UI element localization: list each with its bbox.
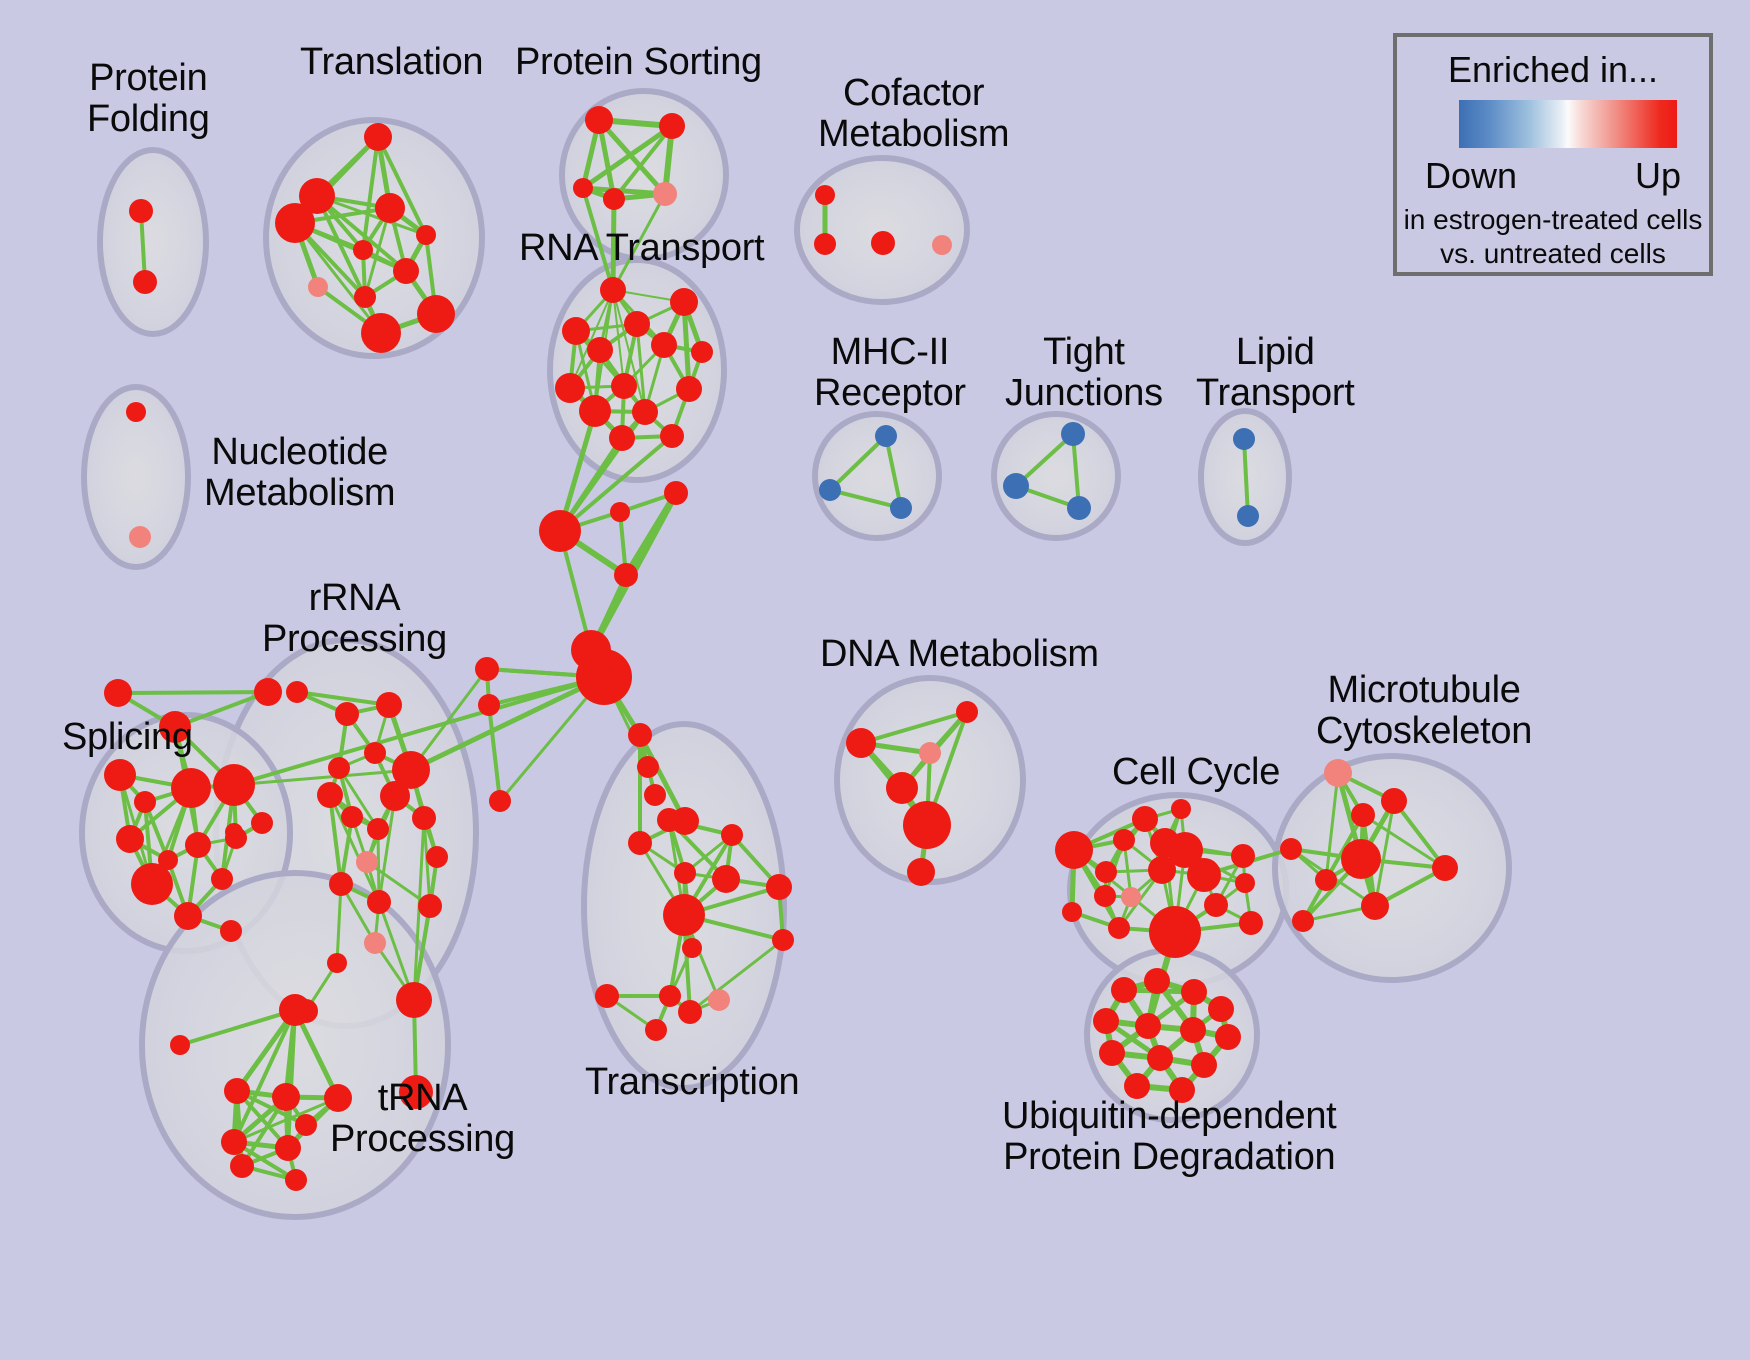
network-node[interactable] [562,317,590,345]
network-node[interactable] [1171,799,1191,819]
network-node[interactable] [1061,422,1085,446]
network-node[interactable] [116,825,144,853]
network-node[interactable] [721,824,743,846]
network-node[interactable] [1208,996,1234,1022]
network-node[interactable] [308,277,328,297]
network-node[interactable] [670,288,698,316]
network-node[interactable] [628,723,652,747]
network-node[interactable] [609,425,635,451]
network-node[interactable] [328,757,350,779]
network-node[interactable] [1180,1017,1206,1043]
network-node[interactable] [335,702,359,726]
network-node[interactable] [871,231,895,255]
network-node[interactable] [133,270,157,294]
network-node[interactable] [653,182,677,206]
cluster-label-rna-transport: RNA Transport [519,228,764,269]
network-node[interactable] [375,193,405,223]
network-node[interactable] [329,872,353,896]
network-node[interactable] [1181,979,1207,1005]
network-node[interactable] [1191,1052,1217,1078]
network-node[interactable] [254,678,282,706]
cluster-label-dna-metabolism: DNA Metabolism [820,634,1099,675]
network-node[interactable] [356,851,378,873]
network-node[interactable] [576,649,632,705]
network-node[interactable] [1231,844,1255,868]
network-node[interactable] [1324,759,1352,787]
network-node[interactable] [126,402,146,422]
network-node[interactable] [131,863,173,905]
network-node[interactable] [1315,869,1337,891]
network-node[interactable] [708,989,730,1011]
network-node[interactable] [230,1154,254,1178]
network-node[interactable] [275,1135,301,1161]
network-node[interactable] [478,694,500,716]
network-edge [118,692,268,693]
network-node[interactable] [134,791,156,813]
network-node[interactable] [104,679,132,707]
network-node[interactable] [676,376,702,402]
network-node[interactable] [213,764,255,806]
network-node[interactable] [1111,977,1137,1003]
cluster-label-ubiquitin-degradation: Ubiquitin-dependent Protein Degradation [1002,1096,1336,1177]
network-node[interactable] [682,938,702,958]
cluster-label-splicing: Splicing [62,717,193,758]
network-node[interactable] [637,756,659,778]
network-node[interactable] [539,510,581,552]
network-node[interactable] [129,199,153,223]
network-node[interactable] [1003,473,1029,499]
network-edge [489,705,500,801]
network-node[interactable] [1215,1024,1241,1050]
legend-down-label: Down [1425,155,1517,197]
network-node[interactable] [678,1000,702,1024]
network-node[interactable] [819,479,841,501]
network-node[interactable] [171,768,211,808]
network-node[interactable] [354,286,376,308]
network-node[interactable] [220,920,242,942]
network-node[interactable] [573,178,593,198]
cluster-label-protein-folding: Protein Folding [87,58,210,139]
network-node[interactable] [272,1083,300,1111]
network-node[interactable] [555,373,585,403]
network-node[interactable] [660,424,684,448]
network-node[interactable] [1204,893,1228,917]
network-node[interactable] [295,1114,317,1136]
network-node[interactable] [380,781,410,811]
network-node[interactable] [579,395,611,427]
cluster-label-cofactor-metabolism: Cofactor Metabolism [818,73,1009,154]
network-node[interactable] [426,846,448,868]
network-node[interactable] [341,806,363,828]
network-node[interactable] [327,953,347,973]
network-node[interactable] [1239,911,1263,935]
network-node[interactable] [663,894,705,936]
network-node[interactable] [1148,856,1176,884]
network-node[interactable] [624,311,650,337]
network-node[interactable] [712,865,740,893]
cluster-label-cell-cycle: Cell Cycle [1112,752,1280,793]
network-node[interactable] [674,862,696,884]
network-node[interactable] [417,295,455,333]
network-node[interactable] [1108,917,1130,939]
network-node[interactable] [932,235,952,255]
network-node[interactable] [1132,806,1158,832]
network-node[interactable] [1121,887,1141,907]
network-node[interactable] [1093,1008,1119,1034]
cluster-label-mhc-ii-receptor: MHC-II Receptor [814,332,966,413]
network-node[interactable] [1113,829,1135,851]
network-node[interactable] [1341,839,1381,879]
network-node[interactable] [651,332,677,358]
network-node[interactable] [614,563,638,587]
cluster-label-protein-sorting: Protein Sorting [515,42,762,83]
network-node[interactable] [317,782,343,808]
network-node[interactable] [211,868,233,890]
network-node[interactable] [645,1019,667,1041]
network-node[interactable] [1233,428,1255,450]
cluster-label-transcription: Transcription [585,1062,799,1103]
network-node[interactable] [1432,855,1458,881]
network-node[interactable] [603,188,625,210]
network-node[interactable] [1187,858,1221,892]
network-node[interactable] [1361,892,1389,920]
legend-color-gradient-bar [1459,100,1677,148]
network-node[interactable] [886,772,918,804]
network-node[interactable] [919,742,941,764]
network-node[interactable] [279,994,311,1026]
network-node[interactable] [185,832,211,858]
network-node[interactable] [1147,1045,1173,1071]
network-node[interactable] [104,759,136,791]
network-node[interactable] [251,812,273,834]
legend-title: Enriched in... [1397,49,1709,91]
network-node[interactable] [416,225,436,245]
network-node[interactable] [393,258,419,284]
network-node[interactable] [418,894,442,918]
network-node[interactable] [170,1035,190,1055]
network-node[interactable] [664,481,688,505]
network-node[interactable] [1351,803,1375,827]
network-node[interactable] [600,277,626,303]
network-node[interactable] [285,1169,307,1191]
cluster-label-tight-junctions: Tight Junctions [1005,332,1163,413]
cluster-label-translation: Translation [300,42,483,83]
network-node[interactable] [1235,873,1255,893]
network-node[interactable] [1067,496,1091,520]
network-node[interactable] [129,526,151,548]
network-node[interactable] [632,399,658,425]
network-node[interactable] [1144,968,1170,994]
legend-subtitle: in estrogen-treated cells vs. untreated … [1397,203,1709,271]
network-node[interactable] [1055,831,1093,869]
network-node[interactable] [364,123,392,151]
legend-up-label: Up [1635,155,1681,197]
network-node[interactable] [585,106,613,134]
legend-panel: Enriched in... Down Up in estrogen-treat… [1393,33,1713,276]
network-node[interactable] [846,728,876,758]
network-node[interactable] [595,984,619,1008]
network-node[interactable] [412,806,436,830]
network-node[interactable] [174,902,202,930]
network-node[interactable] [225,823,243,841]
cluster-label-trna-processing: tRNA Processing [330,1078,515,1159]
network-node[interactable] [364,742,386,764]
network-node[interactable] [367,890,391,914]
network-node[interactable] [875,425,897,447]
cluster-label-nucleotide-metabolism: Nucleotide Metabolism [204,432,395,513]
network-node[interactable] [286,681,308,703]
network-node[interactable] [890,497,912,519]
network-node[interactable] [1237,505,1259,527]
network-node[interactable] [367,818,389,840]
network-node[interactable] [587,337,613,363]
cluster-hull [100,150,206,334]
network-node[interactable] [691,341,713,363]
network-edge [626,493,676,575]
network-node[interactable] [475,657,499,681]
network-node[interactable] [903,801,951,849]
network-node[interactable] [396,982,432,1018]
network-node[interactable] [1292,910,1314,932]
network-node[interactable] [489,790,511,812]
cluster-label-microtubule-cytoskeleton: Microtubule Cytoskeleton [1316,670,1532,751]
network-node[interactable] [628,831,652,855]
network-node[interactable] [224,1078,250,1104]
network-node[interactable] [644,784,666,806]
network-node[interactable] [1062,902,1082,922]
network-node[interactable] [659,113,685,139]
network-node[interactable] [376,692,402,718]
network-node[interactable] [772,929,794,951]
network-node[interactable] [364,932,386,954]
network-node[interactable] [1381,788,1407,814]
network-node[interactable] [1094,885,1116,907]
network-node[interactable] [361,313,401,353]
network-node[interactable] [611,373,637,399]
network-node[interactable] [766,874,792,900]
network-node[interactable] [275,203,315,243]
network-node[interactable] [671,807,699,835]
network-node[interactable] [221,1129,247,1155]
network-node[interactable] [659,985,681,1007]
network-node[interactable] [956,701,978,723]
network-node[interactable] [907,858,935,886]
cluster-label-rrna-processing: rRNA Processing [262,578,447,659]
network-node[interactable] [1280,838,1302,860]
network-node[interactable] [1095,861,1117,883]
network-node[interactable] [814,233,836,255]
network-node[interactable] [815,185,835,205]
network-node[interactable] [1135,1013,1161,1039]
network-node[interactable] [353,240,373,260]
network-canvas: Protein FoldingTranslationProtein Sortin… [0,0,1750,1360]
network-node[interactable] [1099,1040,1125,1066]
network-node[interactable] [610,502,630,522]
network-node[interactable] [1149,906,1201,958]
cluster-hull [550,260,724,480]
cluster-label-lipid-transport: Lipid Transport [1196,332,1355,413]
